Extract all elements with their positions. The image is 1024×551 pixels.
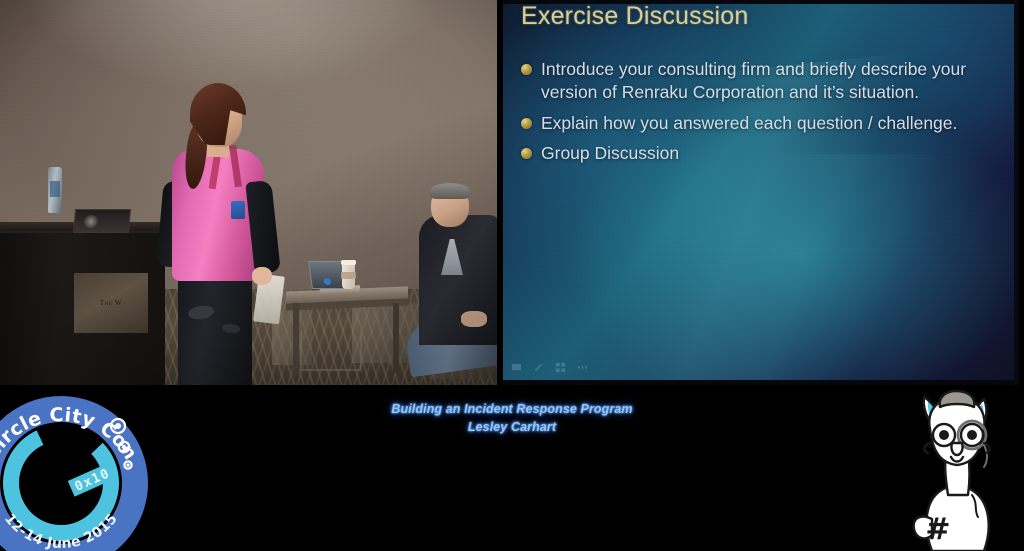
grid-icon[interactable]: [555, 362, 566, 373]
llama-mascot: #: [888, 385, 1020, 551]
bullet-sphere-icon: [521, 148, 532, 159]
bullet-sphere-icon: [521, 64, 532, 75]
talk-title-caption: Building an Incident Response Program Le…: [0, 401, 1024, 437]
bullet-text: Explain how you answered each question /…: [541, 112, 957, 135]
caption-line-title: Building an Incident Response Program: [0, 401, 1024, 419]
mascot-hash-marking: #: [925, 512, 950, 547]
bullet-text: Introduce your consulting firm and brief…: [541, 58, 1001, 105]
slide-bullet-list: Introduce your consulting firm and brief…: [521, 58, 1001, 172]
bullet-text: Group Discussion: [541, 142, 679, 165]
list-item: Introduce your consulting firm and brief…: [521, 58, 1001, 105]
powerpoint-slide: Exercise Discussion Introduce your consu…: [503, 0, 1019, 385]
conference-talk-webcam-feed: The W: [0, 0, 497, 385]
lower-third-bar: 0x10 Circle City Con 12-14 June 2015: [0, 385, 1024, 551]
slide-title: Exercise Discussion: [521, 2, 981, 31]
list-item: Explain how you answered each question /…: [521, 112, 1001, 135]
presenter-toolbar[interactable]: [511, 362, 588, 373]
video-vignette: [0, 0, 497, 385]
list-item: Group Discussion: [521, 142, 1001, 165]
bullet-sphere-icon: [521, 118, 532, 129]
screen-icon[interactable]: [511, 362, 522, 373]
screen-stage: The W Exercise Discussion: [0, 0, 1024, 551]
pen-icon[interactable]: [533, 362, 544, 373]
more-options-icon[interactable]: [577, 362, 588, 373]
caption-line-speaker: Lesley Carhart: [0, 419, 1024, 437]
